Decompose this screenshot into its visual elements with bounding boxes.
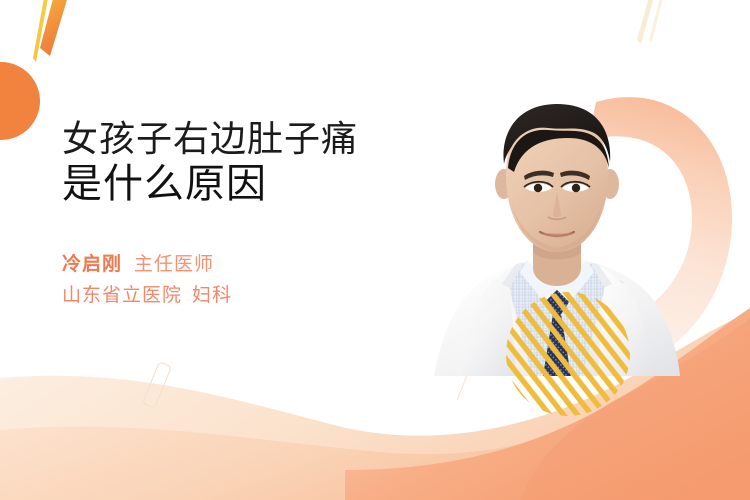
diagonal-stripes-top-right xyxy=(630,0,678,46)
doctor-department: 妇科 xyxy=(192,285,232,306)
doctor-professional-title: 主任医师 xyxy=(134,254,214,275)
outline-bar-decor-small xyxy=(457,372,473,402)
doctor-credentials: 冷启刚主任医师 山东省立医院妇科 xyxy=(62,250,442,312)
outline-bar-decor xyxy=(142,361,172,409)
diagonal-stripes-top-left xyxy=(28,0,98,68)
doctor-hospital: 山东省立医院 xyxy=(62,285,182,306)
doctor-portrait xyxy=(432,76,682,376)
crescent-arc-decor xyxy=(560,88,740,378)
health-qa-poster: 女孩子右边肚子痛 是什么原因 冷启刚主任医师 山东省立医院妇科 xyxy=(0,0,750,500)
page-title-line-1: 女孩子右边肚子痛 xyxy=(62,118,442,160)
page-title-line-2: 是什么原因 xyxy=(62,160,442,208)
doctor-name-row: 冷启刚主任医师 xyxy=(62,250,442,281)
doctor-name: 冷启刚 xyxy=(62,254,122,275)
orange-circle-decor xyxy=(0,62,40,140)
striped-circle-decor xyxy=(506,292,630,416)
text-content-block: 女孩子右边肚子痛 是什么原因 冷启刚主任医师 山东省立医院妇科 xyxy=(62,118,442,312)
doctor-affiliation-row: 山东省立医院妇科 xyxy=(62,281,442,312)
